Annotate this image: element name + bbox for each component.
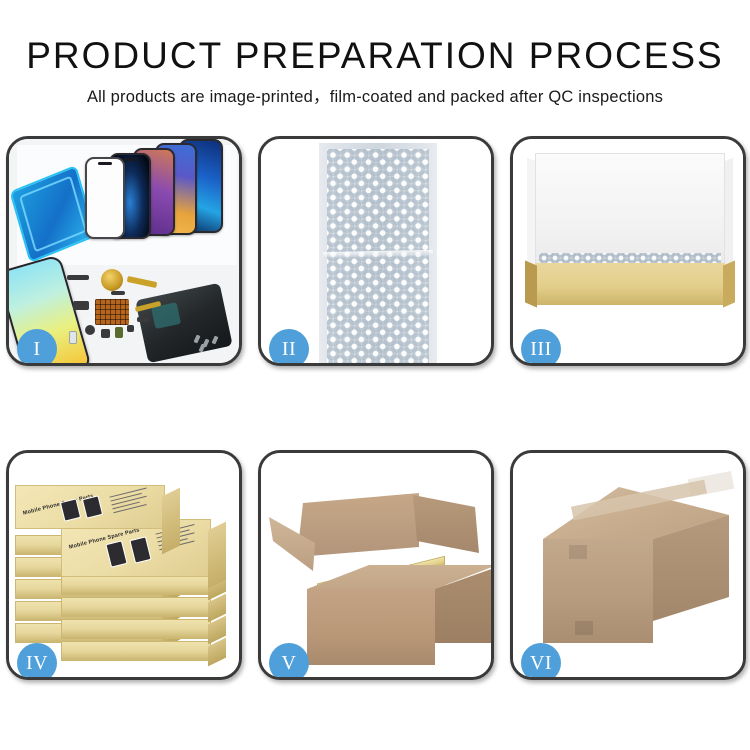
vibration-motor-icon — [101, 269, 123, 291]
page-title: PRODUCT PREPARATION PROCESS — [0, 34, 750, 78]
phone-screen-1-icon — [85, 157, 125, 239]
process-step-panel-6[interactable]: VI — [510, 450, 746, 680]
page-subtitle: All products are image-printed，film-coat… — [0, 86, 750, 108]
process-steps-grid: I II III — [6, 136, 746, 681]
carton-front — [307, 589, 435, 665]
process-step-panel-2[interactable]: II — [258, 136, 494, 366]
product-preparation-process-page: PRODUCT PREPARATION PROCESS All products… — [0, 0, 750, 750]
sealed-carton-front — [543, 539, 653, 643]
header: PRODUCT PREPARATION PROCESS All products… — [0, 0, 750, 108]
kraft-box-stack-icon: Mobile Phone Spare Parts Mobile Phone Sp… — [15, 473, 239, 673]
bubble-wrap-pouch-icon — [319, 143, 437, 363]
process-step-panel-3[interactable]: III — [510, 136, 746, 366]
step-badge-5: V — [269, 643, 309, 680]
box-label-front: Mobile Phone Spare Parts — [68, 527, 140, 550]
kraft-box-top-back: Mobile Phone Spare Parts — [15, 485, 165, 529]
connector-grid-icon — [95, 299, 129, 325]
step-badge-4: IV — [17, 643, 57, 680]
process-step-panel-1[interactable]: I — [6, 136, 242, 366]
kraft-box-tray-icon — [535, 263, 725, 305]
carton-flap-right — [413, 491, 479, 553]
step-badge-3: III — [521, 329, 561, 366]
screws-icon — [195, 335, 223, 351]
step-badge-1: I — [17, 329, 57, 366]
process-step-panel-5[interactable]: V — [258, 450, 494, 680]
step-badge-6: VI — [521, 643, 561, 680]
flex-cable-1-icon — [127, 276, 158, 288]
carton-flap-back — [297, 493, 419, 557]
process-step-panel-4[interactable]: Mobile Phone Spare Parts Mobile Phone Sp… — [6, 450, 242, 680]
step-badge-2: II — [269, 329, 309, 366]
